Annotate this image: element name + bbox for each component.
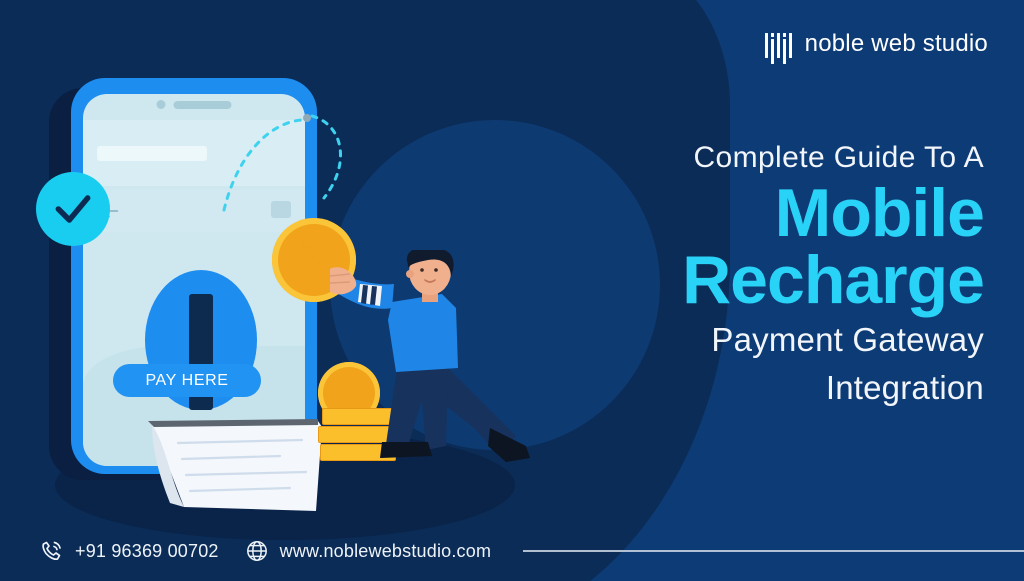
man-holding-coin [330, 250, 540, 500]
screen-input-placeholder [97, 146, 207, 161]
headline-highlight-line1: Mobile [424, 180, 984, 247]
rupee-symbol: ₹ [297, 235, 330, 283]
footer-divider-rule [523, 550, 1024, 552]
website-contact[interactable]: www.noblewebstudio.com [245, 539, 492, 563]
phone-number: +91 96369 00702 [75, 541, 219, 562]
globe-icon [245, 539, 269, 563]
pay-here-label: PAY HERE [145, 372, 228, 390]
dotted-arc-decoration [220, 106, 350, 226]
receipt-paper [140, 415, 330, 515]
phone-call-icon [40, 539, 64, 563]
pay-here-button[interactable]: PAY HERE [113, 364, 261, 397]
promo-banner: noble web studio Complete Guide To A Mob… [0, 0, 1024, 581]
phone-contact[interactable]: +91 96369 00702 [40, 539, 219, 563]
check-mark [51, 187, 95, 231]
check-circle-icon [36, 172, 110, 246]
website-url: www.noblewebstudio.com [280, 541, 492, 562]
brand-logo[interactable]: noble web studio [765, 30, 988, 58]
footer-contact-bar: +91 96369 00702 www.noblewebstudio.com [40, 539, 1024, 563]
camera-dot-icon [157, 100, 166, 109]
brand-name: noble web studio [805, 30, 988, 58]
headline-kicker: Complete Guide To A [424, 140, 984, 176]
bars-grid-icon [765, 33, 792, 55]
